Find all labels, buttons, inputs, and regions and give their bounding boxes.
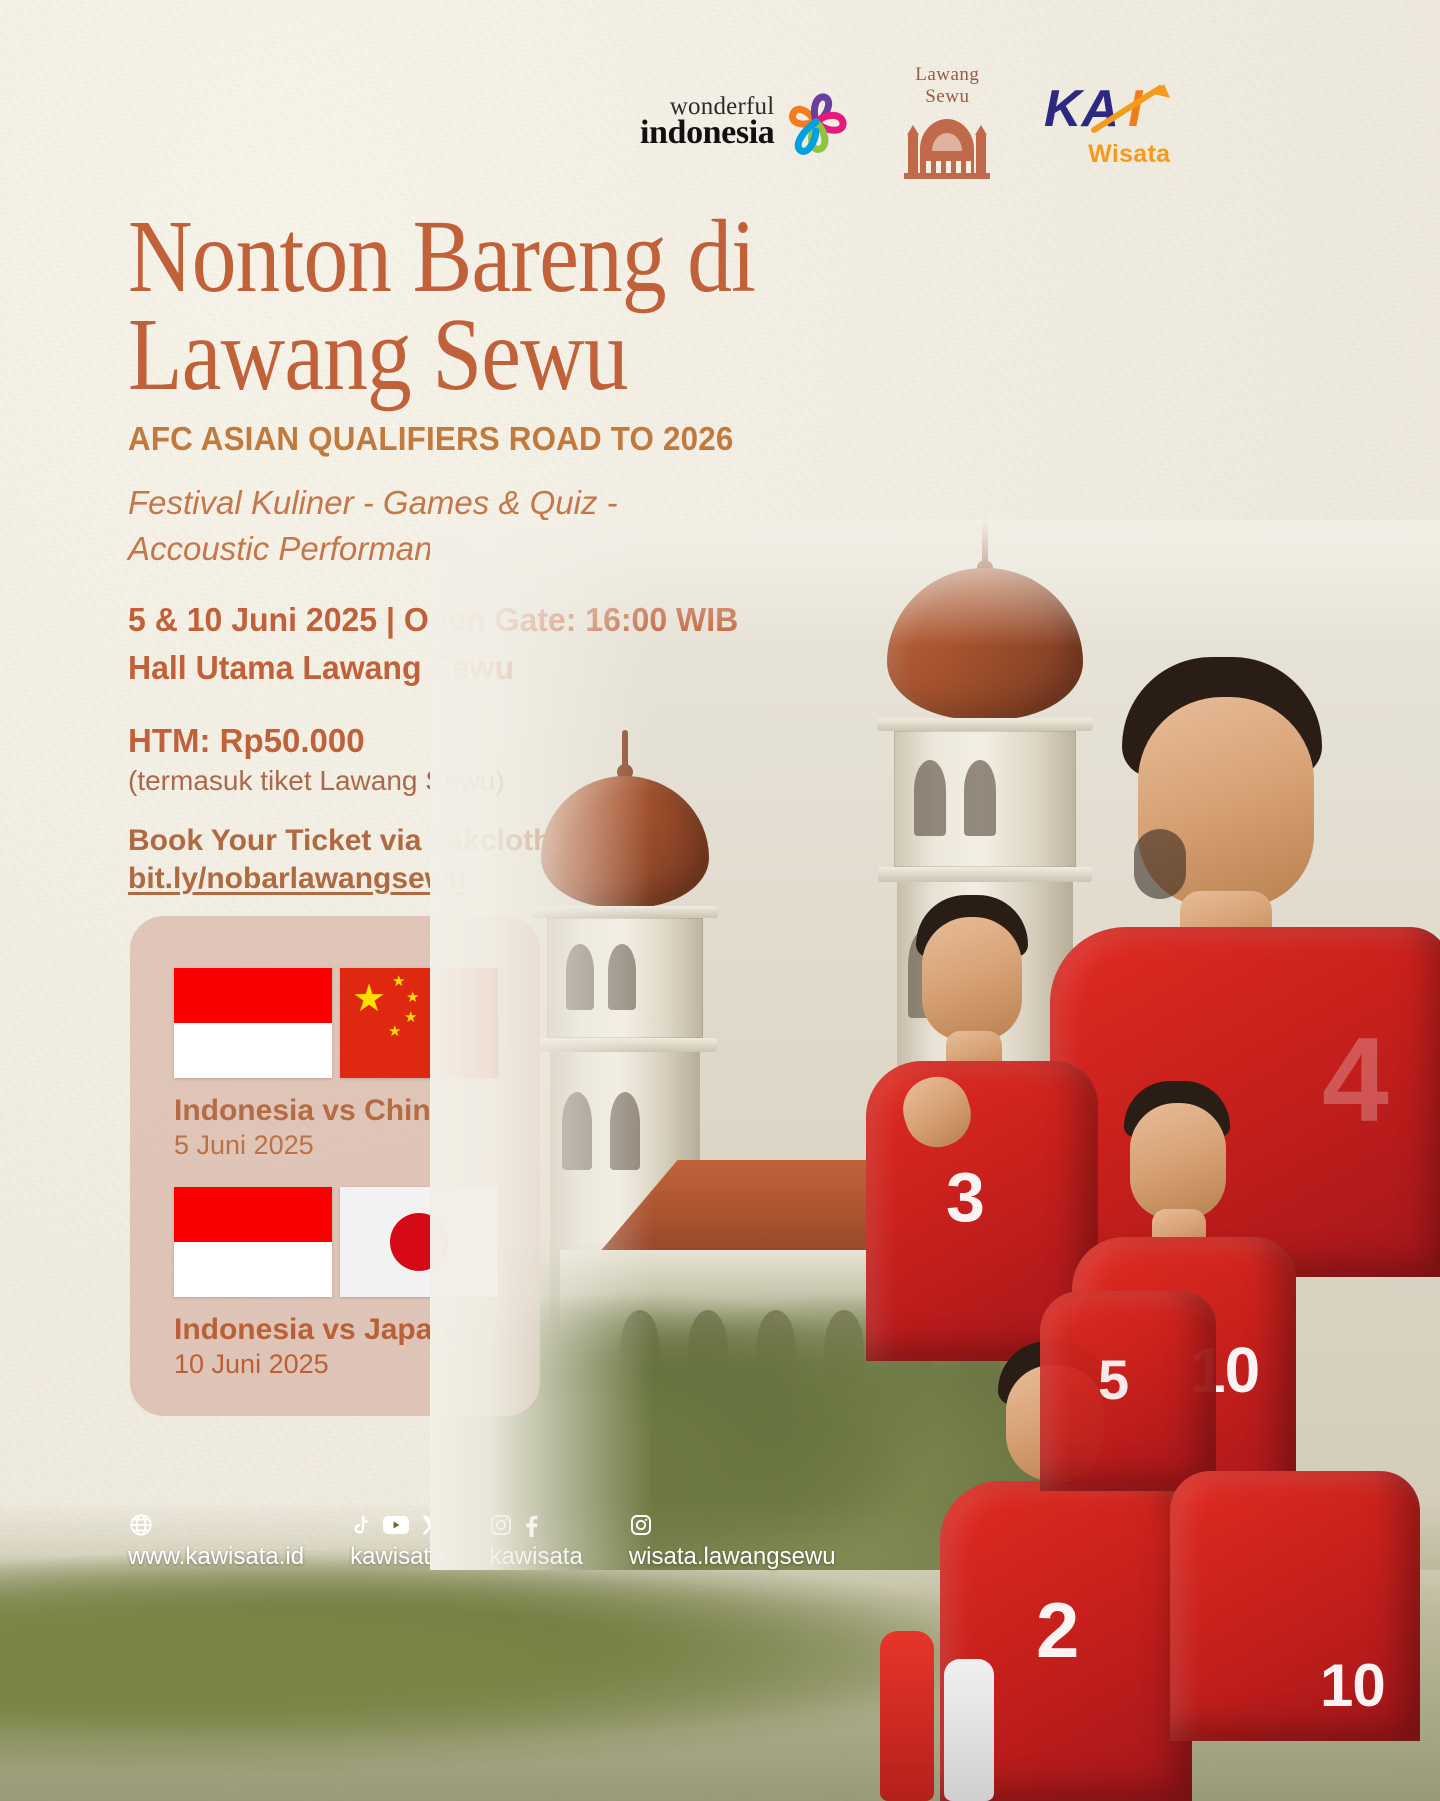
lawang-sewu-label: Lawang Sewu xyxy=(900,64,994,108)
poster-root: 4 3 10 2 5 xyxy=(0,0,1440,1801)
ticket-price: HTM: Rp50.000 xyxy=(128,722,365,760)
lawang-sewu-logo: Lawang Sewu xyxy=(900,68,994,176)
kai-mark-icon: KA I xyxy=(1042,78,1174,140)
wonderful-indonesia-logo: wonderful indonesia xyxy=(640,68,852,176)
website-label[interactable]: www.kawisata.id xyxy=(128,1543,304,1571)
youtube-icon[interactable] xyxy=(382,1514,410,1536)
tiktok-icon[interactable] xyxy=(350,1513,372,1537)
logo-row: wonderful indonesia Lawang Sewu xyxy=(640,62,1160,182)
player-socks xyxy=(880,1631,1000,1801)
wonderful-indonesia-mark-icon xyxy=(780,86,852,158)
svg-text:KA: KA xyxy=(1044,80,1119,138)
booking-link[interactable]: bit.ly/nobarlawangsewu xyxy=(128,862,466,896)
page-title: Nonton Bareng di Lawang Sewu xyxy=(128,208,850,404)
footer-icons-website xyxy=(128,1512,304,1538)
footer-group-website: www.kawisata.id xyxy=(128,1512,304,1571)
lawang-sewu-building-mark-icon xyxy=(900,109,994,181)
globe-icon[interactable] xyxy=(128,1512,154,1538)
kai-wisata-logo: KA I Wisata xyxy=(1042,68,1174,176)
lawang-sewu-photo xyxy=(430,520,1440,1570)
afc-qualifiers-subtitle: AFC ASIAN QUALIFIERS ROAD TO 2026 xyxy=(128,420,733,458)
wonderful-indonesia-text: wonderful indonesia xyxy=(640,94,774,150)
indonesia-flag-icon xyxy=(174,1187,332,1297)
indonesia-label: indonesia xyxy=(640,116,774,150)
kai-wisata-label: Wisata xyxy=(1042,142,1174,167)
indonesia-flag-icon xyxy=(174,968,332,1078)
photo-fade-top xyxy=(430,520,1440,1570)
